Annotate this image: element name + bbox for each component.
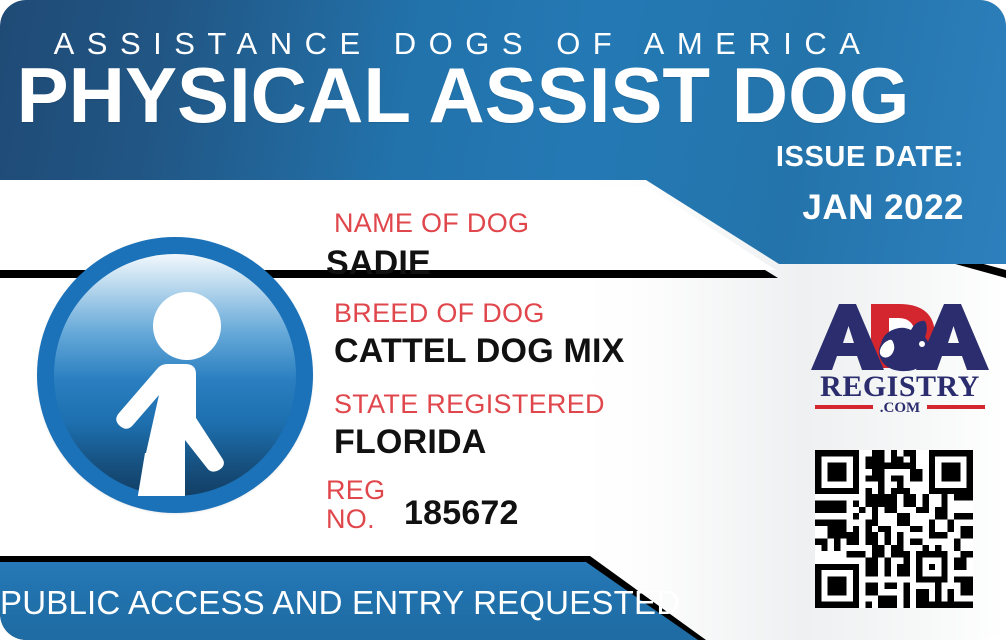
footer-notice-text: PUBLIC ACCESS AND ENTRY REQUESTED xyxy=(0,584,640,622)
state-registered-label: STATE REGISTERED xyxy=(334,389,605,419)
issue-date-value: JAN 2022 xyxy=(706,188,986,228)
avatar xyxy=(37,237,313,513)
card-footer: PUBLIC ACCESS AND ENTRY REQUESTED xyxy=(0,548,1006,640)
breed-of-dog-value: CATTEL DOG MIX xyxy=(334,332,625,370)
breed-of-dog-label: BREED OF DOG xyxy=(334,298,545,328)
person-walking-icon xyxy=(54,254,296,496)
reg-no-label: REG NO. xyxy=(326,476,385,534)
card-title: PHYSICAL ASSIST DOG xyxy=(0,56,926,134)
reg-no-label-line1: REG xyxy=(326,476,385,505)
id-card: ASSISTANCE DOGS OF AMERICA PHYSICAL ASSI… xyxy=(0,0,1006,640)
ada-registry-logo: REGISTRY .COM xyxy=(805,300,995,412)
reg-no-label-line2: NO. xyxy=(326,505,385,534)
name-of-dog-label: NAME OF DOG xyxy=(334,208,529,238)
issue-date-label: ISSUE DATE: xyxy=(706,141,986,174)
state-registered-value: FLORIDA xyxy=(334,423,487,461)
logo-wordmark: REGISTRY xyxy=(820,370,980,403)
logo-tld: .COM xyxy=(880,400,920,412)
name-of-dog-value: SADIE xyxy=(326,244,431,282)
reg-no-value: 185672 xyxy=(404,494,519,532)
